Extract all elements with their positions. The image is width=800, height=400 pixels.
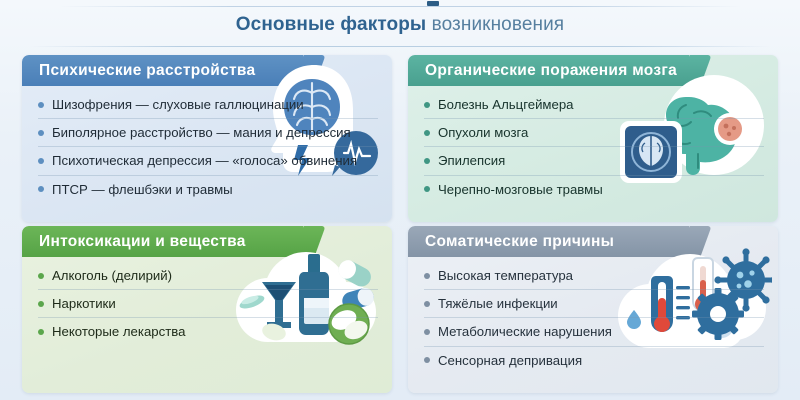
list-item-label: ПТСР — флешбэки и травмы	[52, 182, 233, 197]
list-item[interactable]: Некоторые лекарства	[38, 317, 378, 345]
list-item-label: Наркотики	[52, 296, 116, 311]
page-title: Основные факторы возникновения	[0, 14, 800, 36]
list-item-label: Психотическая депрессия — «голоса» обвин…	[52, 153, 357, 168]
card-intoxications-substances: Интоксикации и вещества Алкоголь (делири…	[22, 226, 392, 393]
list-item-label: Некоторые лекарства	[52, 324, 185, 339]
bullet-icon	[38, 158, 44, 164]
list-item[interactable]: Сенсорная депривация	[424, 346, 764, 374]
top-marker	[427, 1, 439, 6]
bullet-icon	[424, 186, 430, 192]
card-body-somatic-causes: Высокая температура Тяжёлые инфекции Мет…	[408, 257, 778, 393]
bullet-icon	[38, 130, 44, 136]
card-header-psychic-disorders: Психические расстройства	[22, 55, 303, 86]
card-title: Интоксикации и вещества	[39, 233, 246, 251]
card-title: Соматические причины	[425, 233, 614, 251]
list-item[interactable]: Метаболические нарушения	[424, 317, 764, 345]
list-item[interactable]: Эпилепсия	[424, 146, 764, 174]
title-divider	[30, 46, 770, 47]
bullet-icon	[38, 186, 44, 192]
list-item[interactable]: Шизофрения — слуховые галлюцинации	[38, 91, 378, 118]
list-item-label: Метаболические нарушения	[438, 324, 612, 339]
bullet-icon	[424, 102, 430, 108]
list-item-label: Высокая температура	[438, 268, 573, 283]
card-item-list: Алкоголь (делирий) Наркотики Некоторые л…	[38, 262, 378, 346]
card-organic-brain-lesions: Органические поражения мозга Болезнь Аль…	[408, 55, 778, 222]
list-item-label: Биполярное расстройство — мания и депрес…	[52, 125, 351, 140]
list-item-label: Опухоли мозга	[438, 125, 528, 140]
card-somatic-causes: Соматические причины Высокая температура…	[408, 226, 778, 393]
bullet-icon	[424, 130, 430, 136]
list-item-label: Черепно-мозговые травмы	[438, 182, 603, 197]
list-item[interactable]: Биполярное расстройство — мания и депрес…	[38, 118, 378, 146]
infographic-page: Основные факторы возникновения	[0, 0, 800, 400]
card-body-psychic-disorders: Шизофрения — слуховые галлюцинации Бипол…	[22, 86, 392, 222]
bullet-icon	[38, 301, 44, 307]
bullet-icon	[424, 329, 430, 335]
bullet-icon	[38, 273, 44, 279]
page-title-light: возникновения	[432, 14, 565, 35]
card-psychic-disorders: Психические расстройства Шизофрения — сл…	[22, 55, 392, 222]
list-item-label: Шизофрения — слуховые галлюцинации	[52, 97, 304, 112]
list-item[interactable]: Высокая температура	[424, 262, 764, 289]
card-item-list: Высокая температура Тяжёлые инфекции Мет…	[424, 262, 764, 374]
card-title: Психические расстройства	[39, 62, 255, 80]
list-item[interactable]: Алкоголь (делирий)	[38, 262, 378, 289]
list-item-label: Сенсорная депривация	[438, 353, 582, 368]
bullet-icon	[424, 357, 430, 363]
card-header-somatic-causes: Соматические причины	[408, 226, 689, 257]
card-body-intoxications-substances: Алкоголь (делирий) Наркотики Некоторые л…	[22, 257, 392, 393]
card-title: Органические поражения мозга	[425, 62, 677, 80]
card-header-organic-brain-lesions: Органические поражения мозга	[408, 55, 689, 86]
list-item[interactable]: Болезнь Альцгеймера	[424, 91, 764, 118]
list-item-label: Алкоголь (делирий)	[52, 268, 172, 283]
card-body-organic-brain-lesions: Болезнь Альцгеймера Опухоли мозга Эпилеп…	[408, 86, 778, 222]
list-item-label: Эпилепсия	[438, 153, 505, 168]
bullet-icon	[38, 329, 44, 335]
list-item-label: Болезнь Альцгеймера	[438, 97, 574, 112]
top-divider	[60, 6, 740, 7]
bullet-icon	[38, 102, 44, 108]
list-item[interactable]: Черепно-мозговые травмы	[424, 175, 764, 203]
bullet-icon	[424, 158, 430, 164]
list-item[interactable]: Психотическая депрессия — «голоса» обвин…	[38, 146, 378, 174]
bullet-icon	[424, 273, 430, 279]
card-item-list: Шизофрения — слуховые галлюцинации Бипол…	[38, 91, 378, 203]
list-item[interactable]: ПТСР — флешбэки и травмы	[38, 175, 378, 203]
list-item[interactable]: Наркотики	[38, 289, 378, 317]
list-item[interactable]: Тяжёлые инфекции	[424, 289, 764, 317]
list-item[interactable]: Опухоли мозга	[424, 118, 764, 146]
card-item-list: Болезнь Альцгеймера Опухоли мозга Эпилеп…	[424, 91, 764, 203]
bullet-icon	[424, 301, 430, 307]
list-item-label: Тяжёлые инфекции	[438, 296, 558, 311]
card-header-intoxications-substances: Интоксикации и вещества	[22, 226, 303, 257]
cards-grid: Психические расстройства Шизофрения — сл…	[22, 55, 778, 393]
page-title-strong: Основные факторы	[236, 14, 426, 35]
